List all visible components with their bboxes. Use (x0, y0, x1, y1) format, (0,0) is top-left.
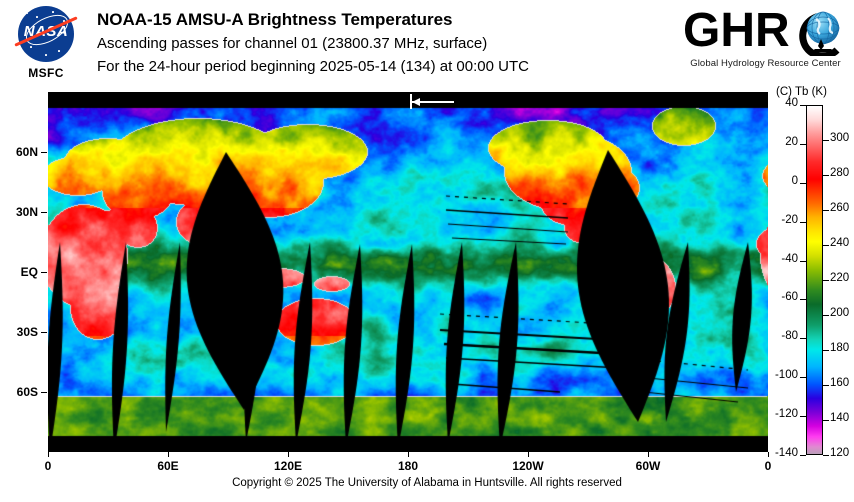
colorbar-label-c-40: 40 (770, 97, 798, 109)
colorbar-label-k-200: 200 (830, 307, 854, 319)
x-axis-label-180: 180 (378, 459, 438, 473)
page-subtitle-period: For the 24-hour period beginning 2025-05… (97, 55, 657, 78)
colorbar-tick-k-140 (823, 420, 829, 421)
copyright-notice: Copyright © 2025 The University of Alaba… (0, 477, 854, 489)
swath-direction-arrow-icon (410, 94, 456, 110)
colorbar-tick-c--80 (800, 338, 806, 339)
x-axis-label-120w: 120W (498, 459, 558, 473)
x-axis-label-0: 0 (18, 459, 78, 473)
colorbar-label-k-220: 220 (830, 272, 854, 284)
colorbar-label-k-120: 120 (830, 447, 854, 459)
colorbar-label-c--40: -40 (770, 253, 798, 265)
svg-text:GHR: GHR (683, 6, 790, 56)
ghrc-wordmark-icon: GHR (683, 6, 848, 56)
colorbar-tick-c--40 (800, 261, 806, 262)
colorbar-label-c-20: 20 (770, 136, 798, 148)
y-axis-label-eq: EQ (0, 265, 38, 279)
colorbar-tick-c-0 (800, 183, 806, 184)
colorbar-tick-c--60 (800, 299, 806, 300)
colorbar-tick-c--140 (800, 455, 806, 456)
colorbar-label-k-260: 260 (830, 202, 854, 214)
page-header: NASA MSFC NOAA-15 AMSU-A Brightness Temp… (0, 0, 854, 88)
colorbar-label-c--120: -120 (770, 408, 798, 420)
ghrc-subtitle: Global Hydrology Resource Center (683, 58, 848, 69)
y-axis-label-30n: 30N (0, 205, 38, 219)
colorbar-label-k-160: 160 (830, 377, 854, 389)
map-plot-area[interactable] (48, 92, 768, 452)
colorbar-label-c--20: -20 (770, 214, 798, 226)
colorbar-label-k-240: 240 (830, 237, 854, 249)
nasa-center-label: MSFC (8, 66, 84, 80)
colorbar-tick-k-200 (823, 315, 829, 316)
colorbar-label-k-140: 140 (830, 412, 854, 424)
y-axis-label-60n: 60N (0, 145, 38, 159)
nasa-logo: NASA MSFC (8, 4, 84, 84)
colorbar-tick-k-180 (823, 350, 829, 351)
colorbar-tick-c-40 (800, 105, 806, 106)
colorbar-tick-k-220 (823, 280, 829, 281)
colorbar-tick-k-300 (823, 140, 829, 141)
colorbar-label-c--80: -80 (770, 330, 798, 342)
x-axis-label-60w: 60W (618, 459, 678, 473)
colorbar-tick-k-260 (823, 210, 829, 211)
y-axis-label-60s: 60S (0, 385, 38, 399)
title-block: NOAA-15 AMSU-A Brightness Temperatures A… (97, 8, 657, 78)
colorbar-label-k-300: 300 (830, 132, 854, 144)
colorbar-tick-k-240 (823, 245, 829, 246)
colorbar-tick-c--100 (800, 377, 806, 378)
ghrc-logo: GHR Global Hydrology Resource Center (683, 6, 848, 82)
colorbar-label-k-180: 180 (830, 342, 854, 354)
page-title: NOAA-15 AMSU-A Brightness Temperatures (97, 8, 657, 32)
colorbar-label-c--140: -140 (770, 447, 798, 459)
colorbar-tick-k-120 (823, 455, 829, 456)
colorbar-label-c--100: -100 (770, 369, 798, 381)
colorbar-tick-c--20 (800, 222, 806, 223)
colorbar-label-c-0: 0 (770, 175, 798, 187)
brightness-temperature-map[interactable] (48, 92, 768, 452)
colorbar-tick-k-160 (823, 385, 829, 386)
colorbar-label-k-280: 280 (830, 167, 854, 179)
x-axis-label-120e: 120E (258, 459, 318, 473)
colorbar-tick-c--120 (800, 416, 806, 417)
y-axis-label-30s: 30S (0, 325, 38, 339)
colorbar-tick-k-280 (823, 175, 829, 176)
page-subtitle-channel: Ascending passes for channel 01 (23800.3… (97, 32, 657, 55)
nasa-meatball-icon: NASA (18, 6, 74, 62)
colorbar-gradient (806, 105, 823, 455)
x-axis-label-360: 0 (738, 459, 798, 473)
colorbar-tick-c-20 (800, 144, 806, 145)
x-axis-label-60e: 60E (138, 459, 198, 473)
colorbar-label-c--60: -60 (770, 291, 798, 303)
